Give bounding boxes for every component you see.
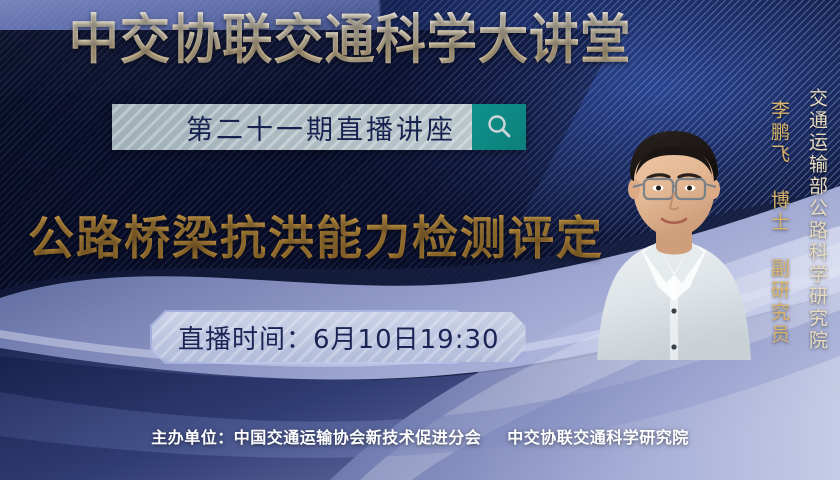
lecture-headline: 公路桥梁抗洪能力检测评定 bbox=[28, 202, 604, 268]
subtitle-panel: 第二十一期直播讲座 bbox=[112, 104, 472, 150]
speaker-organization: 交通运输部公路科学研究院 bbox=[803, 88, 830, 352]
footer-organizer-1: 中国交通运输协会新技术促进分会 bbox=[234, 430, 482, 447]
speaker-photo bbox=[594, 115, 754, 360]
subtitle-banner: 第二十一期直播讲座 bbox=[112, 104, 526, 150]
speaker-name-title: 李鹏飞 博士 副研究员 bbox=[765, 100, 792, 346]
time-banner: 直播时间：6月10日19:30 bbox=[152, 312, 526, 362]
footer-organizers: 主办单位：中国交通运输协会新技术促进分会中交协联交通科学研究院 bbox=[0, 424, 840, 448]
broadcast-time-text: 直播时间：6月10日19:30 bbox=[178, 319, 500, 356]
page-title: 中交协联交通科学大讲堂 bbox=[25, 12, 676, 69]
footer-organizer-label: 主办单位： bbox=[151, 430, 234, 447]
poster-canvas: 中交协联交通科学大讲堂 第二十一期直播讲座 公路桥梁抗洪能力检测评定 直播时间：… bbox=[0, 0, 840, 480]
subtitle-text: 第二十一期直播讲座 bbox=[186, 108, 456, 147]
search-icon bbox=[484, 112, 514, 142]
footer-organizer-2: 中交协联交通科学研究院 bbox=[507, 430, 689, 447]
search-icon-tile[interactable] bbox=[472, 104, 526, 150]
